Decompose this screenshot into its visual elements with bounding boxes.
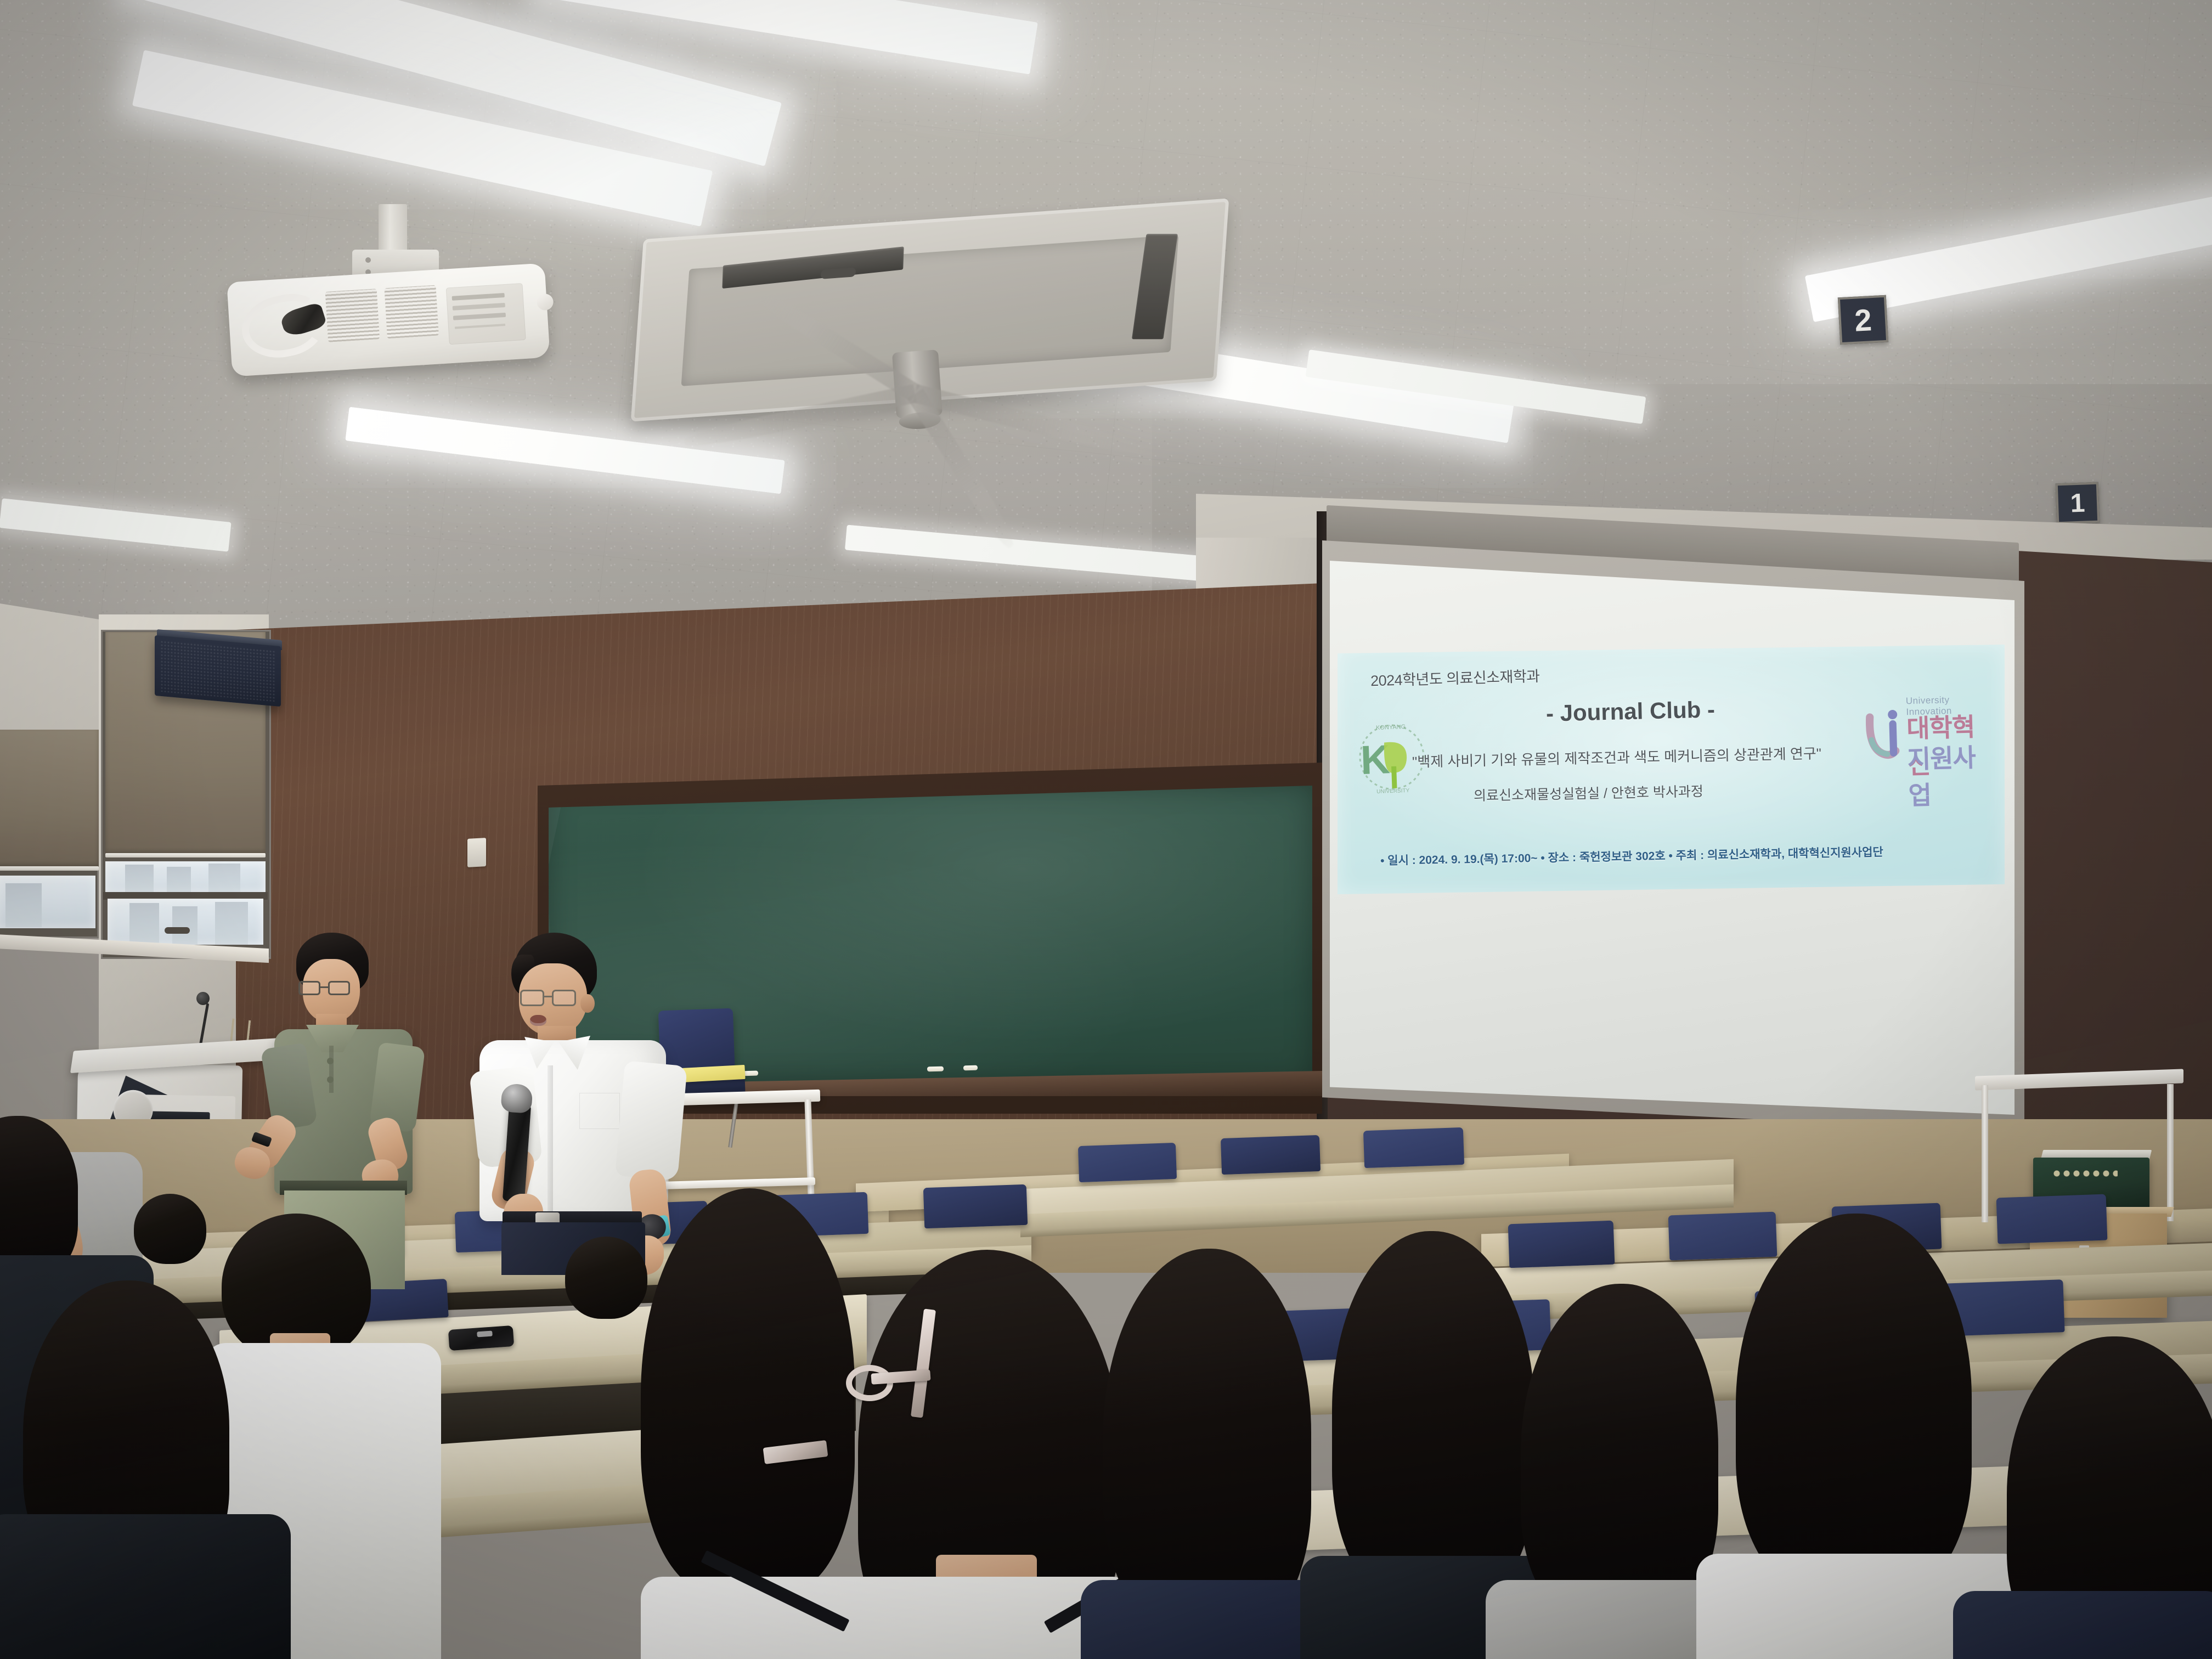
speaker-grille (160, 640, 275, 702)
presenter-shirt-pocket (579, 1093, 620, 1129)
lecture-hall-photo: 2 1 (0, 0, 2212, 1659)
slide-dept-year: 2024학년도 의료신소재학과 (1370, 664, 1540, 691)
window-blind-left (0, 730, 99, 867)
window-glass-main-upper (105, 861, 266, 893)
slide-info-line: • 일시 : 2024. 9. 19.(목) 17:00~ • 장소 : 죽헌정… (1380, 843, 1883, 868)
assistant-placket (329, 1046, 334, 1093)
wall-speaker (155, 635, 281, 707)
presenter-glasses (520, 990, 582, 1006)
audience-head-9 (1736, 1214, 1972, 1598)
presenter-sleeve-right (615, 1060, 687, 1181)
glasses-bridge (320, 986, 328, 988)
glasses-lens-left (520, 990, 544, 1006)
presenter-mouth-open (530, 1015, 546, 1026)
zone-sign-1: 1 (2056, 482, 2100, 524)
window-glass-main-lower (108, 899, 263, 945)
audience-shirt-3-dark (0, 1514, 291, 1659)
seat-9[interactable] (1508, 1221, 1615, 1268)
window-view-building-l3 (215, 902, 248, 945)
glasses-lens-left (298, 981, 320, 995)
right-table-leg-1 (1982, 1085, 1988, 1222)
audience-head-mid-2 (134, 1194, 206, 1264)
assistant-sleeve-right (369, 1042, 425, 1132)
presenter-with-microphone (455, 933, 686, 1273)
audience-head-6 (1103, 1249, 1311, 1633)
glasses-bridge (544, 996, 552, 997)
window-view-building-l1 (129, 903, 159, 945)
audience-head-mid-1 (565, 1237, 647, 1319)
chalk-piece-3[interactable] (963, 1065, 978, 1071)
presenter-shirt-placket (548, 1065, 553, 1214)
zone-sign-2: 2 (1838, 295, 1888, 345)
zone-sign-2-label: 2 (1854, 302, 1873, 338)
window-glass-left (0, 876, 95, 928)
ui-logo-korean-2: 지원사업 (1907, 737, 1999, 812)
audience-head-4 (641, 1188, 855, 1594)
ceiling-projector (227, 263, 550, 376)
audience-shirt-10-navy (1953, 1591, 2212, 1659)
slide-lab-presenter: 의료신소재물성실험실 / 안현호 박사과정 (1474, 781, 1703, 805)
glasses-lens-right (328, 981, 350, 995)
university-innovation-logo: University Innovation 대학혁신 지원사업 (1865, 693, 1999, 792)
assistant-buttons (327, 1058, 334, 1064)
slide-title: - Journal Club - (1545, 696, 1715, 727)
svg-text:KONYANG: KONYANG (1376, 724, 1406, 731)
svg-text:UNIVERSITY: UNIVERSITY (1376, 788, 1410, 795)
window-view-building-l2 (172, 906, 198, 945)
seat-6[interactable] (1078, 1143, 1177, 1182)
projector-side-panel (446, 283, 526, 345)
zone-sign-1-label: 1 (2070, 488, 2086, 518)
assistant-at-lectern (274, 933, 422, 1240)
audience-head-8 (1521, 1284, 1718, 1624)
seat-12[interactable] (1996, 1194, 2108, 1244)
assistant-glasses (298, 981, 356, 995)
window-view-building-u2 (167, 867, 191, 893)
amplifier-knobs[interactable] (2052, 1170, 2118, 1177)
presenter-ear (580, 994, 595, 1013)
seat-5[interactable] (923, 1184, 1028, 1229)
slide-research-title: "백제 사비기 기와 유물의 제작조건과 색도 메커니즘의 상관관계 연구" (1412, 742, 1822, 771)
glasses-lens-right (552, 990, 576, 1006)
right-table-leg-2 (2167, 1084, 2174, 1221)
projector-vent-1 (325, 289, 380, 342)
seat-7[interactable] (1221, 1135, 1321, 1175)
seat-10[interactable] (1668, 1212, 1778, 1261)
window-view-building (5, 883, 42, 927)
window-handle[interactable] (165, 927, 190, 934)
seat-8[interactable] (1363, 1127, 1464, 1168)
lectern-microphone (196, 992, 210, 1005)
projector-vent-2 (384, 285, 438, 339)
wall-light-switch[interactable] (467, 838, 486, 867)
audience-head-7 (1332, 1231, 1535, 1604)
presentation-slide: KONYANG UNIVERSITY K 2024학년도 의료신소재학과 - J… (1338, 645, 2005, 894)
chalk-piece-2[interactable] (927, 1066, 944, 1072)
window-view-building-u1 (125, 865, 154, 893)
window-view-building-u3 (208, 864, 240, 893)
